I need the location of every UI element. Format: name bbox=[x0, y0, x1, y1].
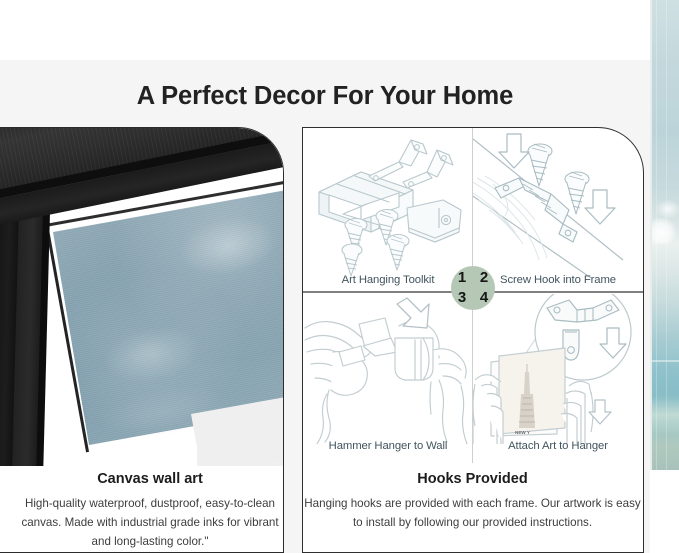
hooks-provided-caption: Hooks Provided Hanging hooks are provide… bbox=[302, 471, 643, 532]
top-gutter bbox=[0, 0, 679, 60]
step-2-label: Screw Hook into Frame bbox=[473, 274, 643, 286]
badge-number-1: 1 bbox=[451, 267, 473, 289]
canvas-wall-art-caption-body: High-quality waterproof, dustproof, easy… bbox=[16, 494, 284, 551]
instruction-step-3: Hammer Hanger to Wall bbox=[303, 294, 473, 458]
hooks-provided-caption-body: Hanging hooks are provided with each fra… bbox=[302, 494, 643, 532]
step-4-label: Attach Art to Hanger bbox=[473, 440, 643, 452]
content-panel: A Perfect Decor For Your Home bbox=[0, 60, 650, 553]
hooks-provided-caption-title: Hooks Provided bbox=[302, 471, 643, 487]
cloud-small bbox=[656, 200, 679, 218]
water-shine bbox=[650, 395, 679, 435]
product-detail-infographic: A Perfect Decor For Your Home bbox=[0, 0, 679, 553]
frame-inner-liner bbox=[45, 180, 283, 453]
seascape-sliver bbox=[650, 0, 679, 470]
step-1-label: Art Hanging Toolkit bbox=[303, 274, 473, 286]
page-title: A Perfect Decor For Your Home bbox=[0, 82, 650, 111]
step-3-label: Hammer Hanger to Wall bbox=[303, 440, 473, 452]
art-hanging-toolkit-illustration bbox=[303, 128, 473, 278]
instruction-grid: Art Hanging Toolkit bbox=[303, 128, 643, 463]
instruction-step-4: NEW Y bbox=[473, 294, 643, 458]
horizon-line bbox=[650, 360, 679, 362]
hammer-hanger-to-wall-illustration bbox=[303, 294, 473, 444]
badge-number-2: 2 bbox=[473, 267, 495, 289]
step-number-badge: 1 2 3 4 bbox=[451, 266, 495, 310]
canvas-wall-art-caption-title: Canvas wall art bbox=[16, 471, 284, 487]
canvas-wall-art-caption: Canvas wall art High-quality waterproof,… bbox=[16, 471, 284, 551]
cloud-large bbox=[650, 218, 676, 244]
photo-stripe-2 bbox=[666, 0, 667, 470]
svg-text:NEW Y: NEW Y bbox=[515, 430, 530, 435]
photo-stripe-1 bbox=[656, 0, 657, 470]
badge-number-4: 4 bbox=[473, 287, 495, 309]
canvas-frame-photo bbox=[0, 128, 283, 466]
badge-number-3: 3 bbox=[451, 287, 473, 309]
instruction-step-1: Art Hanging Toolkit bbox=[303, 128, 473, 292]
instruction-step-2: Screw Hook into Frame bbox=[473, 128, 643, 292]
attach-art-to-hanger-illustration: NEW Y bbox=[473, 294, 643, 444]
photo-left-edge bbox=[650, 0, 652, 470]
screw-hook-into-frame-illustration bbox=[473, 128, 643, 278]
